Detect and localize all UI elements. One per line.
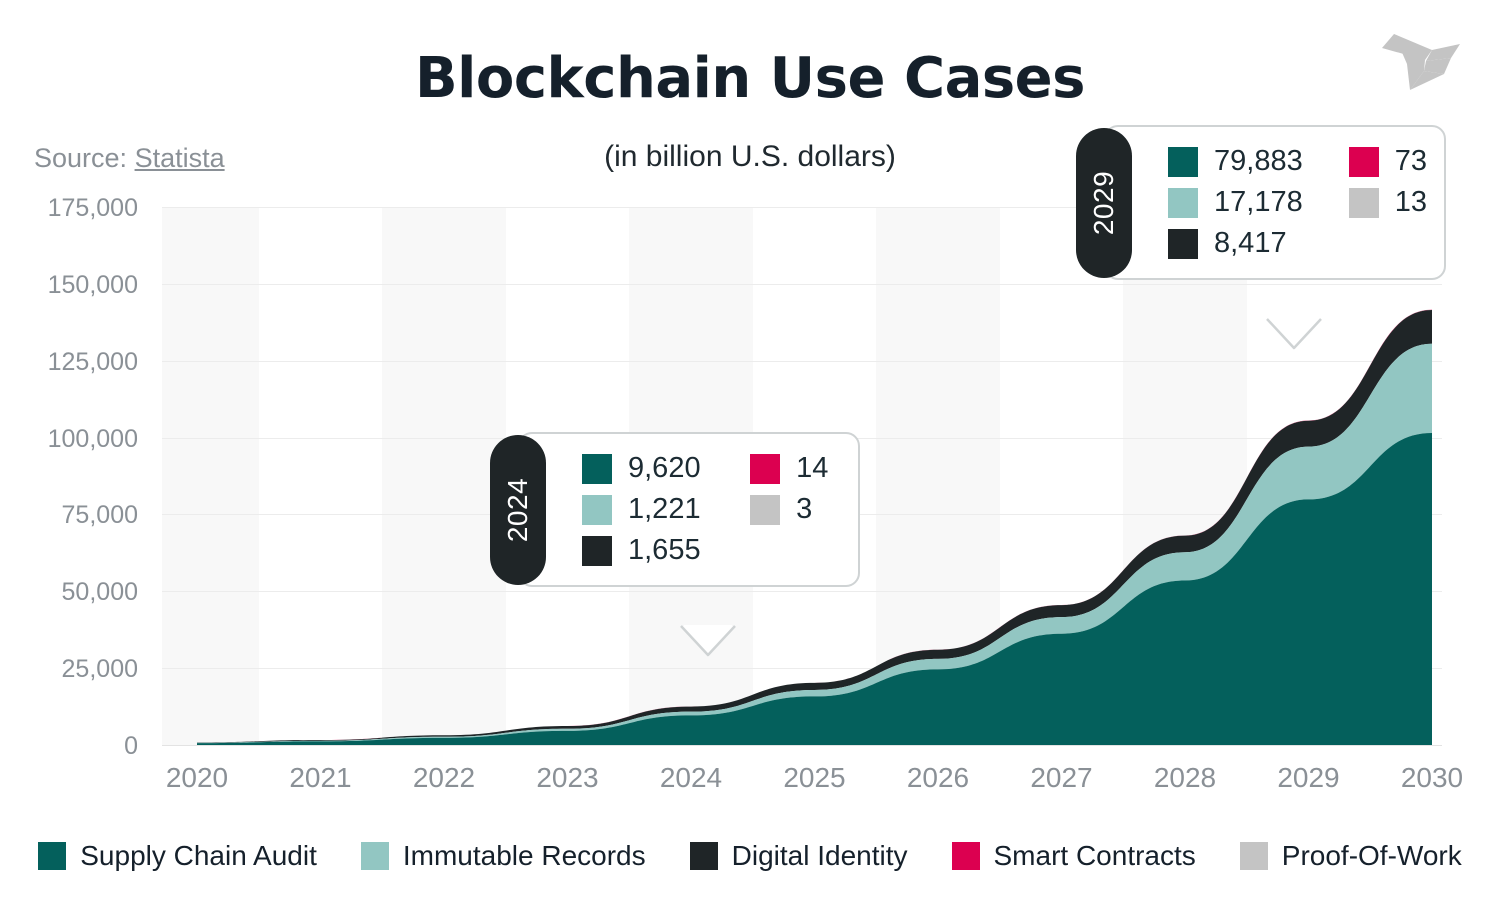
- tooltip-value: 13: [1395, 186, 1427, 219]
- swatch-supply-chain-audit: [1168, 147, 1198, 177]
- tooltip-row: 1,655: [582, 534, 704, 567]
- legend-item[interactable]: Proof-Of-Work: [1240, 840, 1462, 872]
- x-axis-tick-label: 2020: [137, 762, 257, 794]
- legend-label: Immutable Records: [403, 840, 646, 872]
- swatch-digital-identity: [1168, 229, 1198, 259]
- tooltip-row: 17,178: [1168, 186, 1303, 219]
- x-axis-tick-label: 2021: [261, 762, 381, 794]
- x-axis-tick-label: 2029: [1249, 762, 1369, 794]
- legend-label: Proof-Of-Work: [1282, 840, 1462, 872]
- tooltip-2029-right-column: 73 13: [1349, 145, 1427, 260]
- x-axis-tick-label: 2023: [508, 762, 628, 794]
- legend-item[interactable]: Supply Chain Audit: [38, 840, 317, 872]
- y-axis-tick-label: 125,000: [0, 348, 138, 377]
- legend-swatch-icon: [1240, 842, 1268, 870]
- chart-legend: Supply Chain AuditImmutable RecordsDigit…: [0, 840, 1500, 872]
- x-axis-tick-label: 2027: [1002, 762, 1122, 794]
- tooltip-2029[interactable]: 2029 79,883 17,178 8,417 73 13: [1104, 125, 1446, 280]
- source-prefix: Source:: [34, 143, 135, 173]
- swatch-smart-contracts: [1349, 147, 1379, 177]
- y-axis-tick-label: 0: [0, 732, 138, 761]
- legend-label: Smart Contracts: [994, 840, 1196, 872]
- y-axis-tick-label: 150,000: [0, 271, 138, 300]
- tooltip-row: 9,620: [582, 452, 704, 485]
- tooltip-value: 3: [796, 493, 812, 526]
- tooltip-row: 3: [750, 493, 832, 526]
- x-axis-tick-label: 2022: [384, 762, 504, 794]
- y-axis-tick-label: 100,000: [0, 425, 138, 454]
- y-axis-tick-label: 175,000: [0, 194, 138, 223]
- tooltip-year-badge-2024: 2024: [490, 435, 546, 585]
- tooltip-row: 73: [1349, 145, 1427, 178]
- tooltip-value: 1,655: [628, 534, 701, 567]
- origami-bird-logo-icon: [1372, 16, 1482, 96]
- tooltip-2029-left-column: 79,883 17,178 8,417: [1168, 145, 1303, 260]
- swatch-supply-chain-audit: [582, 454, 612, 484]
- x-axis-tick-label: 2025: [755, 762, 875, 794]
- legend-swatch-icon: [38, 842, 66, 870]
- x-axis-tick-label: 2026: [878, 762, 998, 794]
- tooltip-tail-2029: [1266, 318, 1322, 352]
- tooltip-value: 73: [1395, 145, 1427, 178]
- y-axis-tick-label: 75,000: [0, 501, 138, 530]
- source-note: Source: Statista: [34, 143, 225, 174]
- tooltip-value: 17,178: [1214, 186, 1303, 219]
- swatch-immutable-records: [582, 495, 612, 525]
- legend-item[interactable]: Immutable Records: [361, 840, 646, 872]
- swatch-proof-of-work: [1349, 188, 1379, 218]
- legend-swatch-icon: [952, 842, 980, 870]
- chart-page: Blockchain Use Cases (in billion U.S. do…: [0, 0, 1500, 920]
- legend-label: Supply Chain Audit: [80, 840, 317, 872]
- y-axis-tick-label: 25,000: [0, 655, 138, 684]
- source-link[interactable]: Statista: [135, 143, 225, 173]
- tooltip-2024-left-column: 9,620 1,221 1,655: [582, 452, 704, 567]
- gridline: [162, 745, 1442, 746]
- tooltip-value: 8,417: [1214, 227, 1287, 260]
- tooltip-value: 14: [796, 452, 828, 485]
- legend-swatch-icon: [690, 842, 718, 870]
- tooltip-row: 79,883: [1168, 145, 1303, 178]
- swatch-digital-identity: [582, 536, 612, 566]
- swatch-proof-of-work: [750, 495, 780, 525]
- x-axis-tick-label: 2030: [1372, 762, 1492, 794]
- tooltip-row: 14: [750, 452, 832, 485]
- tooltip-row: 8,417: [1168, 227, 1303, 260]
- tooltip-2024[interactable]: 2024 9,620 1,221 1,655 14 3: [518, 432, 860, 587]
- tooltip-value: 79,883: [1214, 145, 1303, 178]
- tooltip-tail-2024: [680, 625, 736, 659]
- swatch-smart-contracts: [750, 454, 780, 484]
- x-axis-tick-label: 2028: [1125, 762, 1245, 794]
- legend-swatch-icon: [361, 842, 389, 870]
- y-axis-tick-label: 50,000: [0, 578, 138, 607]
- tooltip-year-badge-2029: 2029: [1076, 128, 1132, 278]
- legend-item[interactable]: Smart Contracts: [952, 840, 1196, 872]
- legend-item[interactable]: Digital Identity: [690, 840, 908, 872]
- page-title: Blockchain Use Cases: [0, 46, 1500, 111]
- tooltip-2024-right-column: 14 3: [750, 452, 832, 567]
- x-axis-tick-label: 2024: [631, 762, 751, 794]
- tooltip-value: 1,221: [628, 493, 701, 526]
- legend-label: Digital Identity: [732, 840, 908, 872]
- tooltip-value: 9,620: [628, 452, 701, 485]
- tooltip-row: 13: [1349, 186, 1427, 219]
- swatch-immutable-records: [1168, 188, 1198, 218]
- tooltip-row: 1,221: [582, 493, 704, 526]
